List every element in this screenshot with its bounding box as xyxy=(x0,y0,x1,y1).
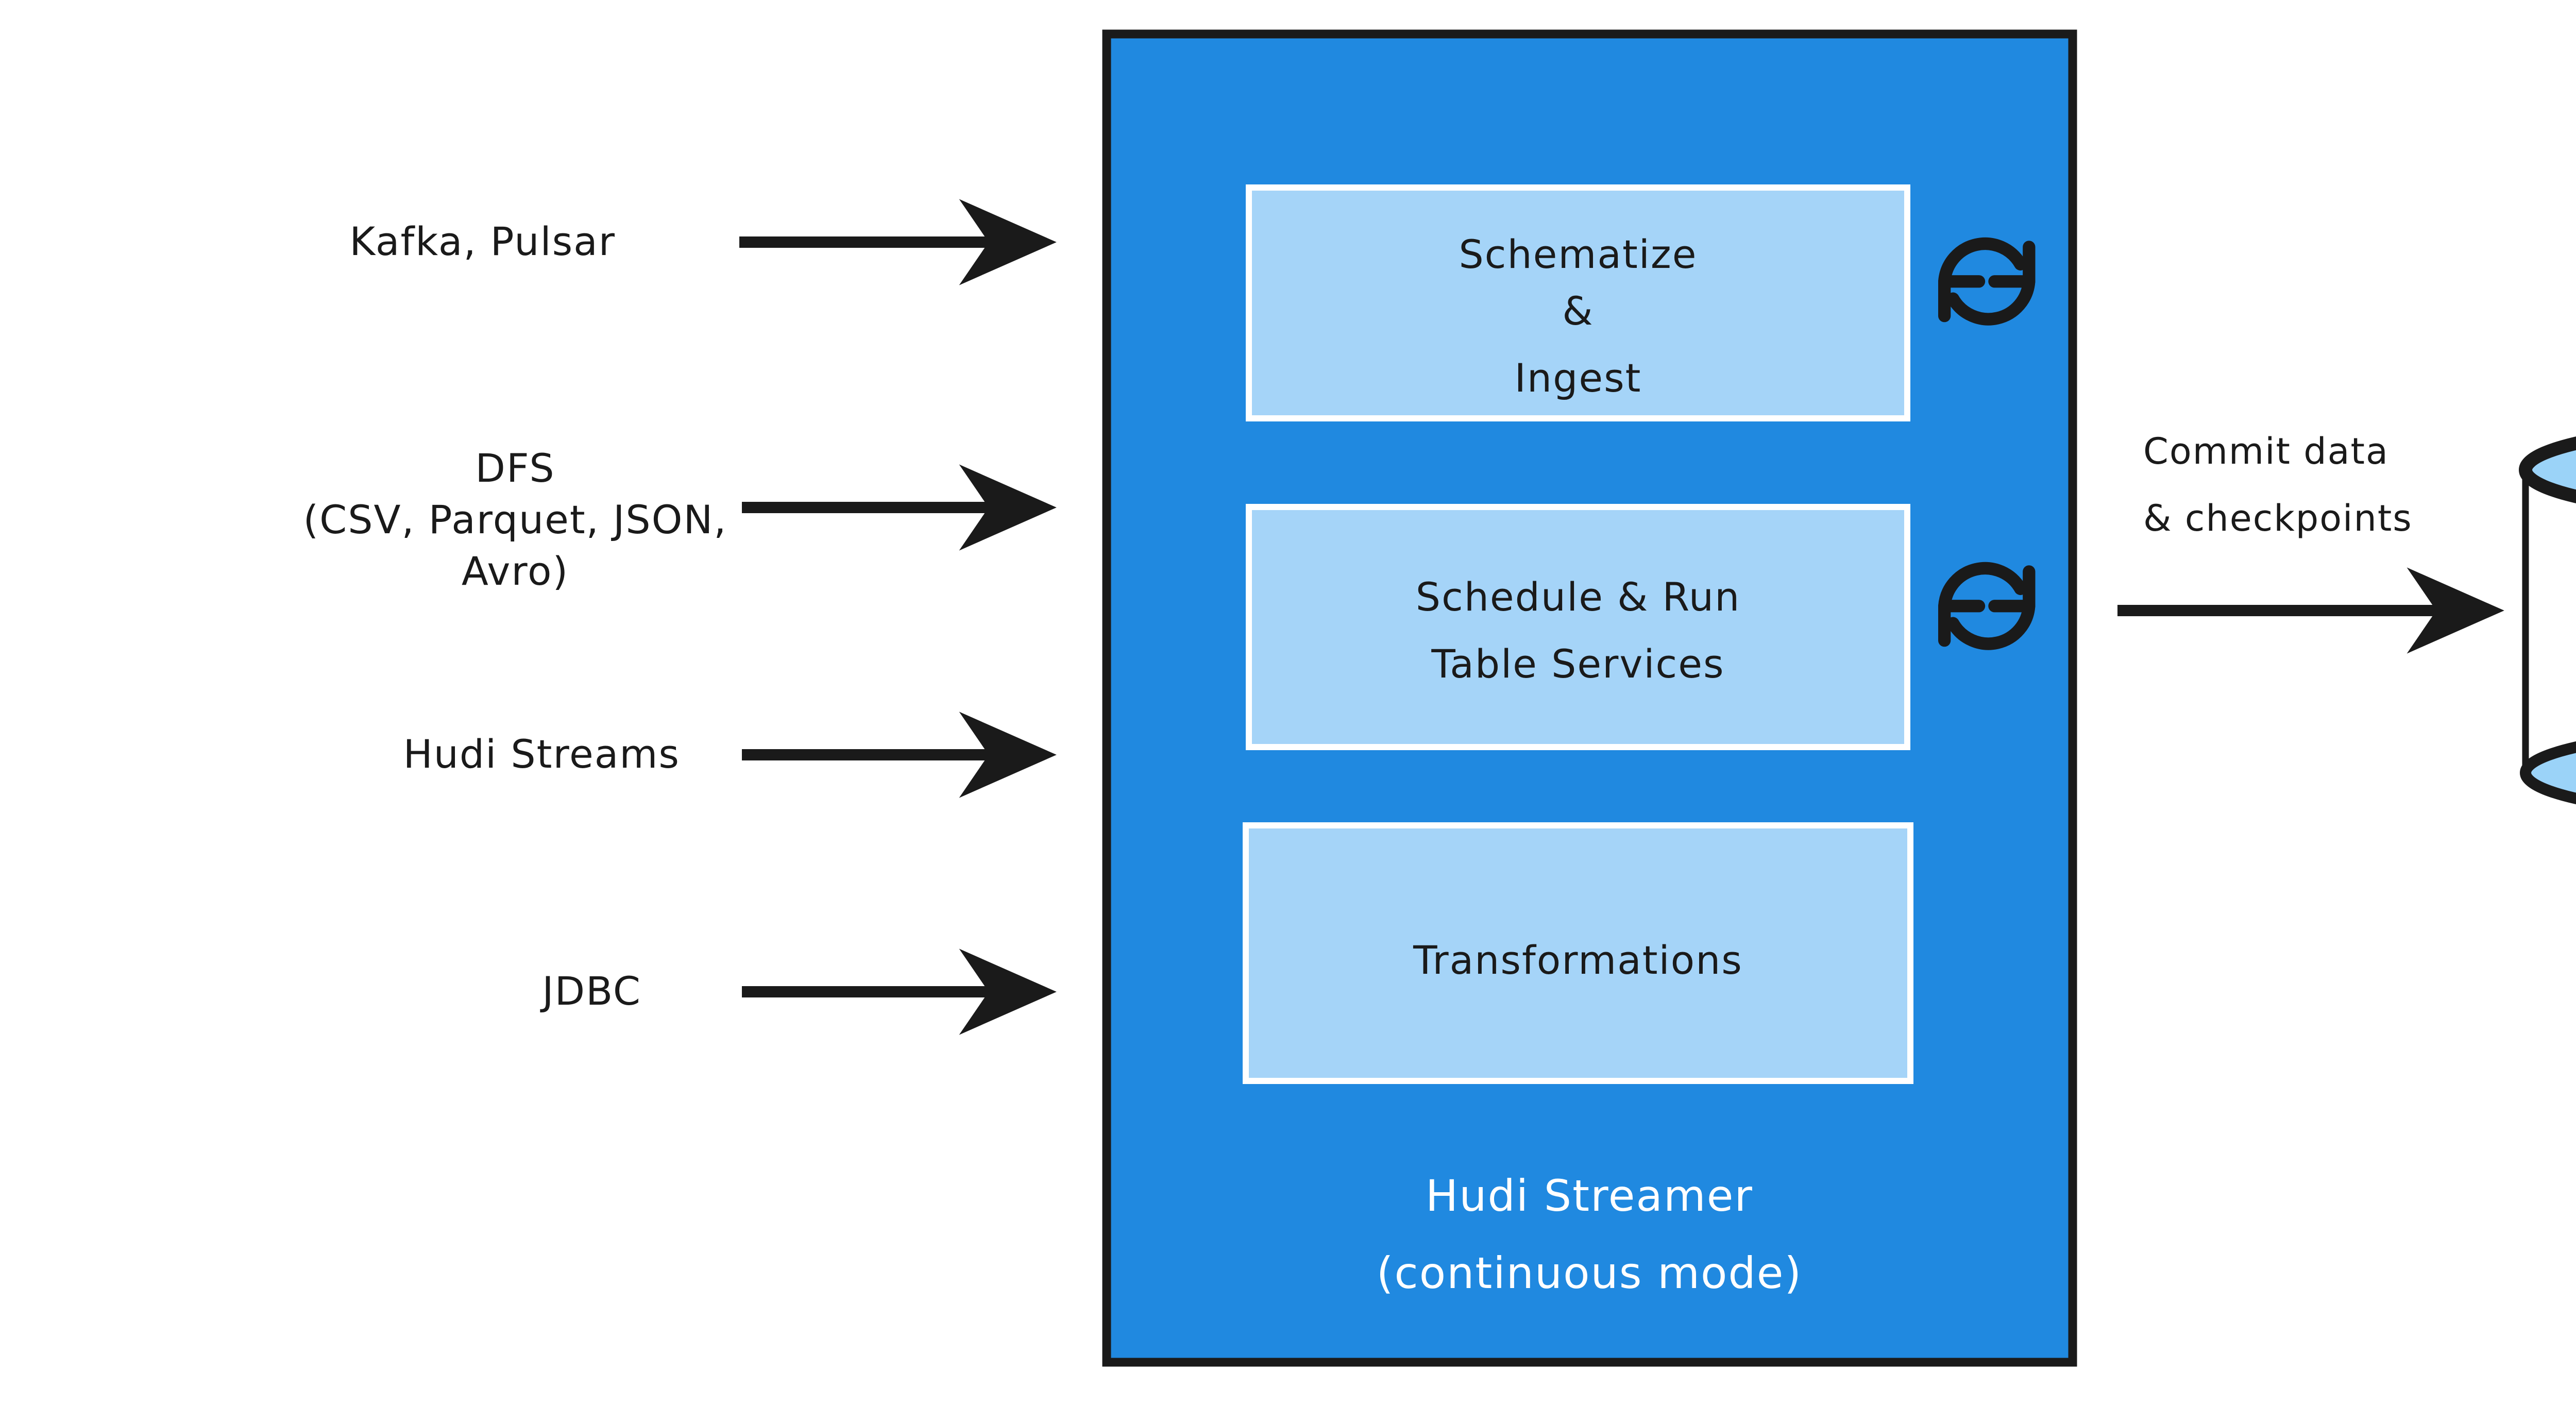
source-label-dfs-line3: Avro) xyxy=(462,548,569,594)
stage-label-ingest: Ingest xyxy=(1515,355,1642,401)
diagram-canvas: Kafka, Pulsar DFS (CSV, Parquet, JSON, A… xyxy=(0,0,2576,1405)
stage-label-schedule-run: Schedule & Run xyxy=(1416,574,1741,620)
stage-label-ampersand: & xyxy=(1562,288,1594,334)
stage-label-schematize: Schematize xyxy=(1459,231,1697,277)
commit-label-line2: & checkpoints xyxy=(2143,497,2413,539)
panel-title-line2: (continuous mode) xyxy=(1377,1248,1802,1298)
source-label-dfs-line2: (CSV, Parquet, JSON, xyxy=(303,497,727,543)
stage-label-table-services: Table Services xyxy=(1431,641,1724,687)
source-label-hudi-streams: Hudi Streams xyxy=(403,731,680,777)
commit-label-line1: Commit data xyxy=(2143,430,2389,472)
stage-label-transformations: Transformations xyxy=(1413,937,1743,983)
source-label-dfs-line1: DFS xyxy=(475,445,555,491)
diagram-text-layer: Kafka, Pulsar DFS (CSV, Parquet, JSON, A… xyxy=(0,0,2576,1405)
source-label-jdbc: JDBC xyxy=(540,968,641,1014)
source-label-kafka-pulsar: Kafka, Pulsar xyxy=(349,218,616,264)
panel-title-line1: Hudi Streamer xyxy=(1426,1171,1753,1221)
